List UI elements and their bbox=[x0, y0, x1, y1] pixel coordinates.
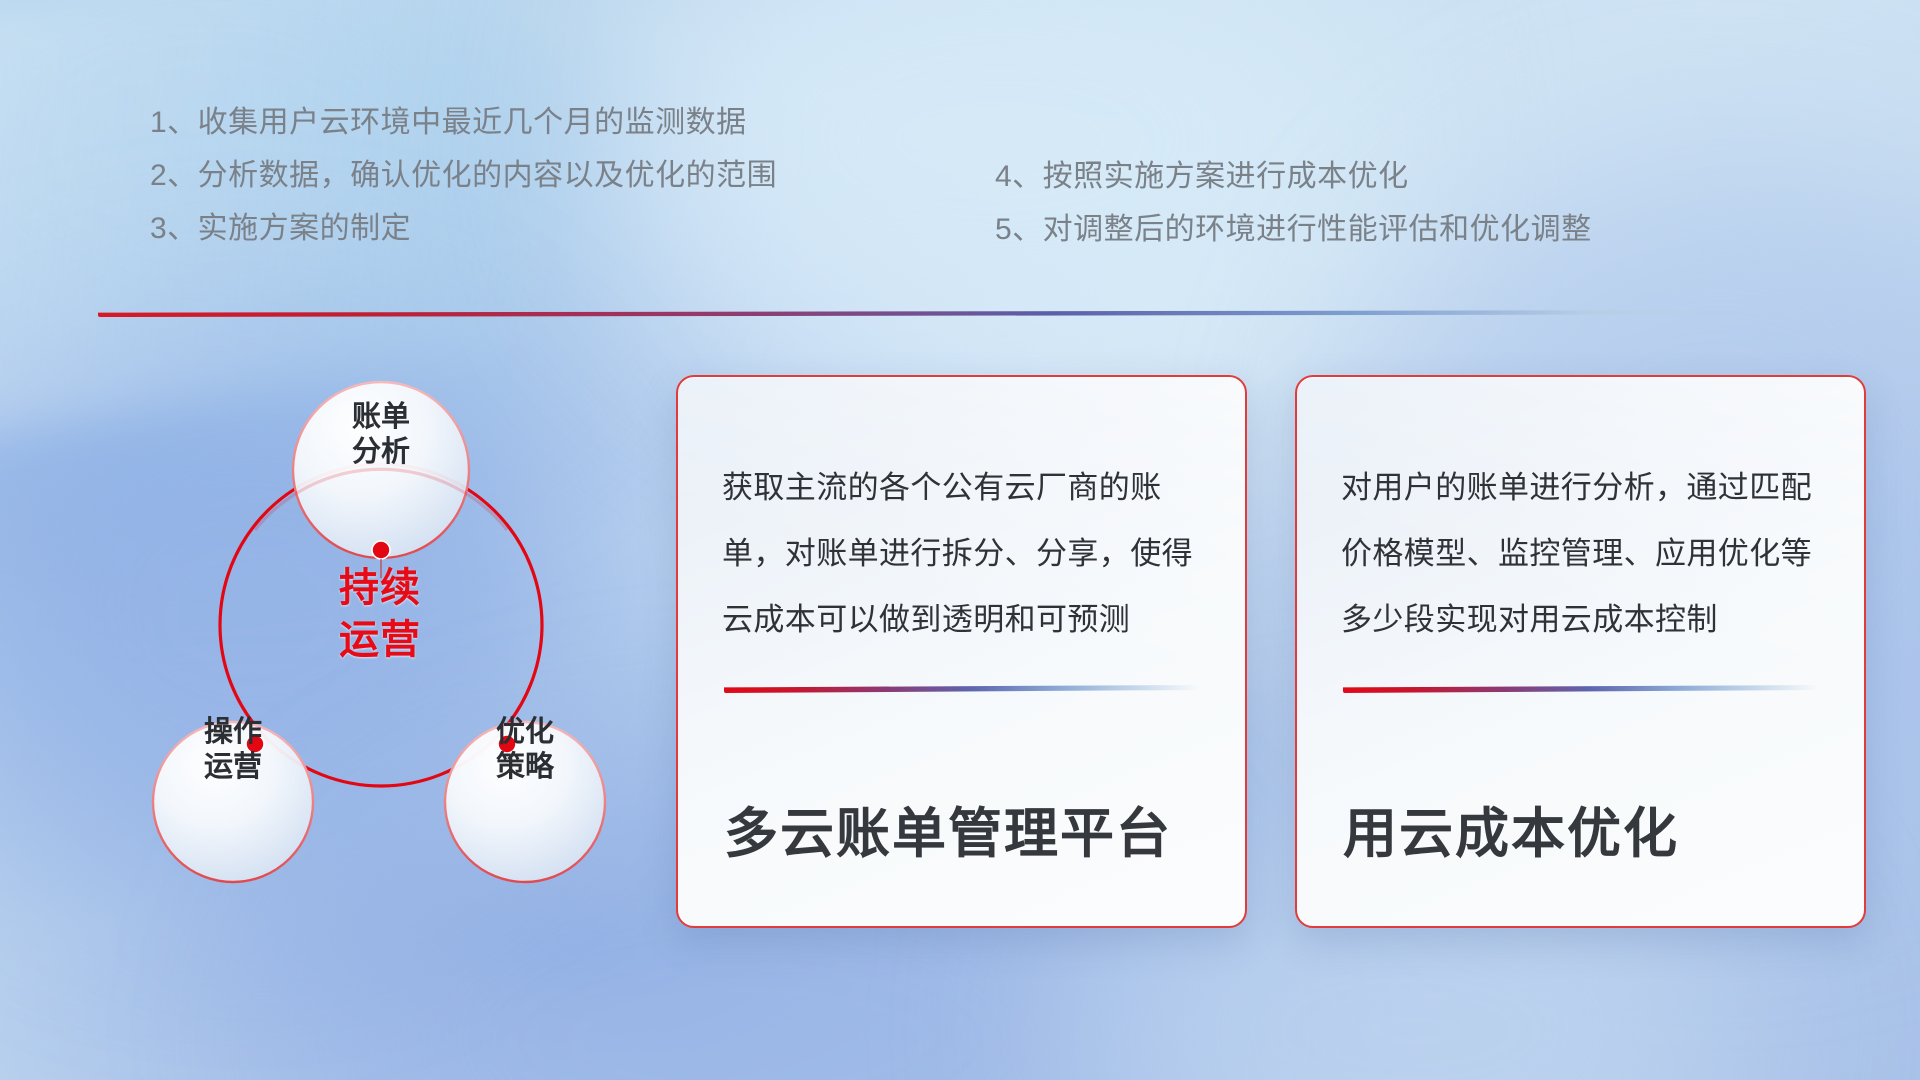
venn-label-ops: 操作 运营 bbox=[143, 715, 323, 786]
venn-label-billing: 账单 分析 bbox=[291, 400, 471, 471]
section-divider bbox=[98, 310, 1798, 319]
venn-label-strategy: 优化 策略 bbox=[435, 715, 615, 786]
process-step-3: 3、实施方案的制定 bbox=[150, 202, 777, 255]
process-column-right: 4、按照实施方案进行成本优化 5、对调整后的环境进行性能评估和优化调整 bbox=[995, 150, 1592, 256]
card-group: 获取主流的各个公有云厂商的账单，对账单进行拆分、分享，使得云成本可以做到透明和可… bbox=[676, 375, 1866, 945]
process-step-4: 4、按照实施方案进行成本优化 bbox=[995, 150, 1592, 203]
card-divider bbox=[1343, 685, 1818, 695]
card-body-text: 获取主流的各个公有云厂商的账单，对账单进行拆分、分享，使得云成本可以做到透明和可… bbox=[678, 377, 1245, 653]
divider-gradient-bar bbox=[98, 310, 1798, 317]
card-title: 用云成本优化 bbox=[1297, 789, 1864, 926]
card-divider-gradient-bar bbox=[724, 685, 1199, 693]
card-cloud-cost-optimization[interactable]: 对用户的账单进行分析，通过匹配价格模型、监控管理、应用优化等多少段实现对用云成本… bbox=[1295, 375, 1866, 928]
venn-diagram: 账单 分析 操作 运营 优化 策略 持续 运营 bbox=[95, 340, 625, 960]
card-divider bbox=[724, 685, 1199, 695]
card-multicloud-billing-platform[interactable]: 获取主流的各个公有云厂商的账单，对账单进行拆分、分享，使得云成本可以做到透明和可… bbox=[676, 375, 1247, 928]
process-column-left: 1、收集用户云环境中最近几个月的监测数据 2、分析数据，确认优化的内容以及优化的… bbox=[150, 96, 777, 255]
process-step-1: 1、收集用户云环境中最近几个月的监测数据 bbox=[150, 96, 777, 149]
card-divider-gradient-bar bbox=[1343, 685, 1818, 693]
card-title: 多云账单管理平台 bbox=[678, 789, 1245, 926]
card-body-text: 对用户的账单进行分析，通过匹配价格模型、监控管理、应用优化等多少段实现对用云成本… bbox=[1297, 377, 1864, 653]
process-step-5: 5、对调整后的环境进行性能评估和优化调整 bbox=[995, 203, 1592, 256]
process-step-list: 1、收集用户云环境中最近几个月的监测数据 2、分析数据，确认优化的内容以及优化的… bbox=[0, 0, 1920, 300]
process-step-2: 2、分析数据，确认优化的内容以及优化的范围 bbox=[150, 149, 777, 202]
venn-label-center: 持续 运营 bbox=[280, 562, 480, 666]
slide-canvas: 1、收集用户云环境中最近几个月的监测数据 2、分析数据，确认优化的内容以及优化的… bbox=[0, 0, 1920, 1080]
